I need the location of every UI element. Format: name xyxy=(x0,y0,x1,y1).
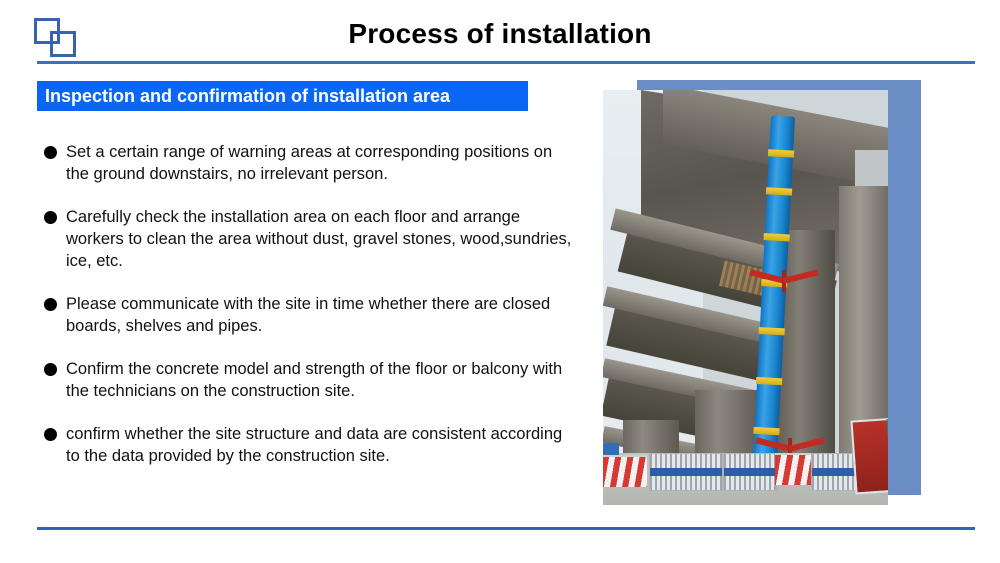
photo-sign-strip xyxy=(886,419,888,491)
header-divider xyxy=(37,61,975,64)
photo-fence-band xyxy=(812,468,858,476)
photo-safety-barrier xyxy=(775,453,815,485)
bullet-dot-icon xyxy=(44,298,57,311)
photo-red-bracket xyxy=(749,270,819,296)
photo-mesh-fence xyxy=(723,453,777,491)
list-item: Set a certain range of warning areas at … xyxy=(44,141,574,185)
bullet-text: Confirm the concrete model and strength … xyxy=(66,358,574,402)
bullet-dot-icon xyxy=(44,428,57,441)
bullet-dot-icon xyxy=(44,146,57,159)
bullet-text: Set a certain range of warning areas at … xyxy=(66,141,574,185)
bullet-text: Carefully check the installation area on… xyxy=(66,206,574,272)
bullet-dot-icon xyxy=(44,211,57,224)
photo-mesh-fence xyxy=(811,453,859,491)
photo-pipe-band xyxy=(753,427,779,435)
section-banner-label: Inspection and confirmation of installat… xyxy=(37,86,450,107)
list-item: Carefully check the installation area on… xyxy=(44,206,574,272)
list-item: Please communicate with the site in time… xyxy=(44,293,574,337)
photo-pipe-band xyxy=(768,149,794,157)
photo-safety-barrier xyxy=(603,455,647,487)
section-banner: Inspection and confirmation of installat… xyxy=(37,81,528,111)
list-item: confirm whether the site structure and d… xyxy=(44,423,574,467)
photo-pipe-band xyxy=(766,187,792,195)
photo-mesh-fence xyxy=(649,453,723,491)
photo-fence-band xyxy=(650,468,722,476)
photo-red-sign-board xyxy=(850,417,888,494)
bullet-text: confirm whether the site structure and d… xyxy=(66,423,574,467)
photo-pipe-band xyxy=(756,377,782,385)
photo-fence-band xyxy=(724,468,776,476)
construction-site-photo xyxy=(603,90,888,505)
bullet-list: Set a certain range of warning areas at … xyxy=(44,141,574,488)
bullet-dot-icon xyxy=(44,363,57,376)
photo-pipe-band xyxy=(759,327,785,335)
footer-divider xyxy=(37,527,975,530)
list-item: Confirm the concrete model and strength … xyxy=(44,358,574,402)
photo-content xyxy=(603,90,888,505)
slide: Process of installation Inspection and c… xyxy=(0,0,1000,563)
bullet-text: Please communicate with the site in time… xyxy=(66,293,574,337)
page-title: Process of installation xyxy=(0,18,1000,50)
photo-bracket-stem xyxy=(782,270,786,292)
photo-pipe-band xyxy=(763,233,789,241)
